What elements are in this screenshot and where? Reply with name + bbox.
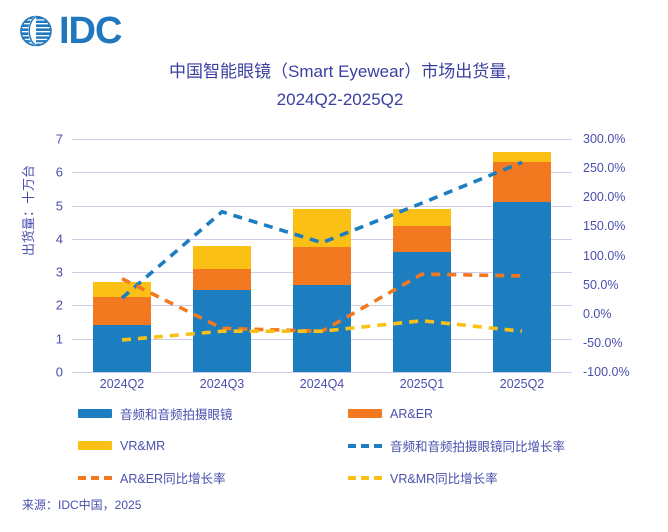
secondary-y-axis-tick-label: -100.0% — [583, 365, 630, 379]
secondary-y-axis-tick-label: 150.0% — [583, 219, 625, 233]
legend-item[interactable]: 音频和音频拍摄眼镜 — [78, 404, 348, 423]
secondary-y-axis-tick-label: -50.0% — [583, 336, 623, 350]
legend-label: VR&MR — [120, 439, 165, 453]
trend-line — [122, 162, 522, 298]
legend-label: AR&ER — [390, 407, 433, 421]
secondary-y-axis-tick-label: 300.0% — [583, 132, 625, 146]
chart-plot-area: 01234567 -100.0%-50.0%0.0%50.0%100.0%150… — [72, 139, 572, 372]
y-axis-tick-label: 1 — [56, 331, 63, 346]
legend-dash-swatch — [348, 476, 382, 480]
legend-item[interactable]: AR&ER同比增长率 — [78, 468, 348, 487]
chart-title-line2: 2024Q2-2025Q2 — [60, 86, 620, 114]
legend-label: VR&MR同比增长率 — [390, 468, 498, 487]
y-axis-tick-label: 4 — [56, 231, 63, 246]
chart-title: 中国智能眼镜（Smart Eyewear）市场出货量, 2024Q2-2025Q… — [60, 58, 620, 114]
logo-wordmark: IDC — [59, 12, 121, 50]
chart-title-line1: 中国智能眼镜（Smart Eyewear）市场出货量, — [60, 58, 620, 86]
chart-legend: 音频和音频拍摄眼镜AR&ERVR&MR音频和音频拍摄眼镜同比增长率AR&ER同比… — [78, 404, 608, 487]
x-axis-tick-label: 2024Q4 — [300, 377, 344, 391]
y-axis-title: 出货量：十万台 — [18, 165, 37, 256]
trend-line — [122, 321, 522, 340]
idc-logo: IDC — [18, 12, 121, 50]
x-axis-tick-label: 2024Q3 — [200, 377, 244, 391]
y-axis-tick-label: 3 — [56, 265, 63, 280]
legend-item[interactable]: 音频和音频拍摄眼镜同比增长率 — [348, 436, 608, 455]
legend-label: AR&ER同比增长率 — [120, 468, 226, 487]
x-axis-tick-label: 2025Q2 — [500, 377, 544, 391]
legend-label: 音频和音频拍摄眼镜 — [120, 404, 233, 423]
legend-dash-swatch — [78, 476, 112, 480]
y-axis-tick-label: 2 — [56, 298, 63, 313]
y-axis-tick-label: 5 — [56, 198, 63, 213]
gridline — [72, 372, 572, 373]
globe-icon — [18, 12, 54, 50]
legend-color-swatch — [78, 441, 112, 450]
trend-line — [122, 274, 522, 331]
legend-item[interactable]: AR&ER — [348, 404, 608, 423]
secondary-y-axis-tick-label: 200.0% — [583, 190, 625, 204]
legend-color-swatch — [78, 409, 112, 418]
secondary-y-axis-tick-label: 100.0% — [583, 249, 625, 263]
legend-label: 音频和音频拍摄眼镜同比增长率 — [390, 436, 565, 455]
legend-item[interactable]: VR&MR同比增长率 — [348, 468, 608, 487]
legend-color-swatch — [348, 409, 382, 418]
y-axis-tick-label: 7 — [56, 132, 63, 147]
source-note: 来源：IDC中国，2025 — [22, 496, 141, 513]
y-axis-tick-label: 0 — [56, 365, 63, 380]
legend-item[interactable]: VR&MR — [78, 436, 348, 455]
secondary-y-axis-tick-label: 250.0% — [583, 161, 625, 175]
secondary-y-axis-tick-label: 50.0% — [583, 278, 618, 292]
legend-dash-swatch — [348, 444, 382, 448]
secondary-y-axis-tick-label: 0.0% — [583, 307, 612, 321]
x-axis-tick-label: 2025Q1 — [400, 377, 444, 391]
x-axis-tick-label: 2024Q2 — [100, 377, 144, 391]
line-series-layer — [72, 139, 572, 372]
y-axis-tick-label: 6 — [56, 165, 63, 180]
